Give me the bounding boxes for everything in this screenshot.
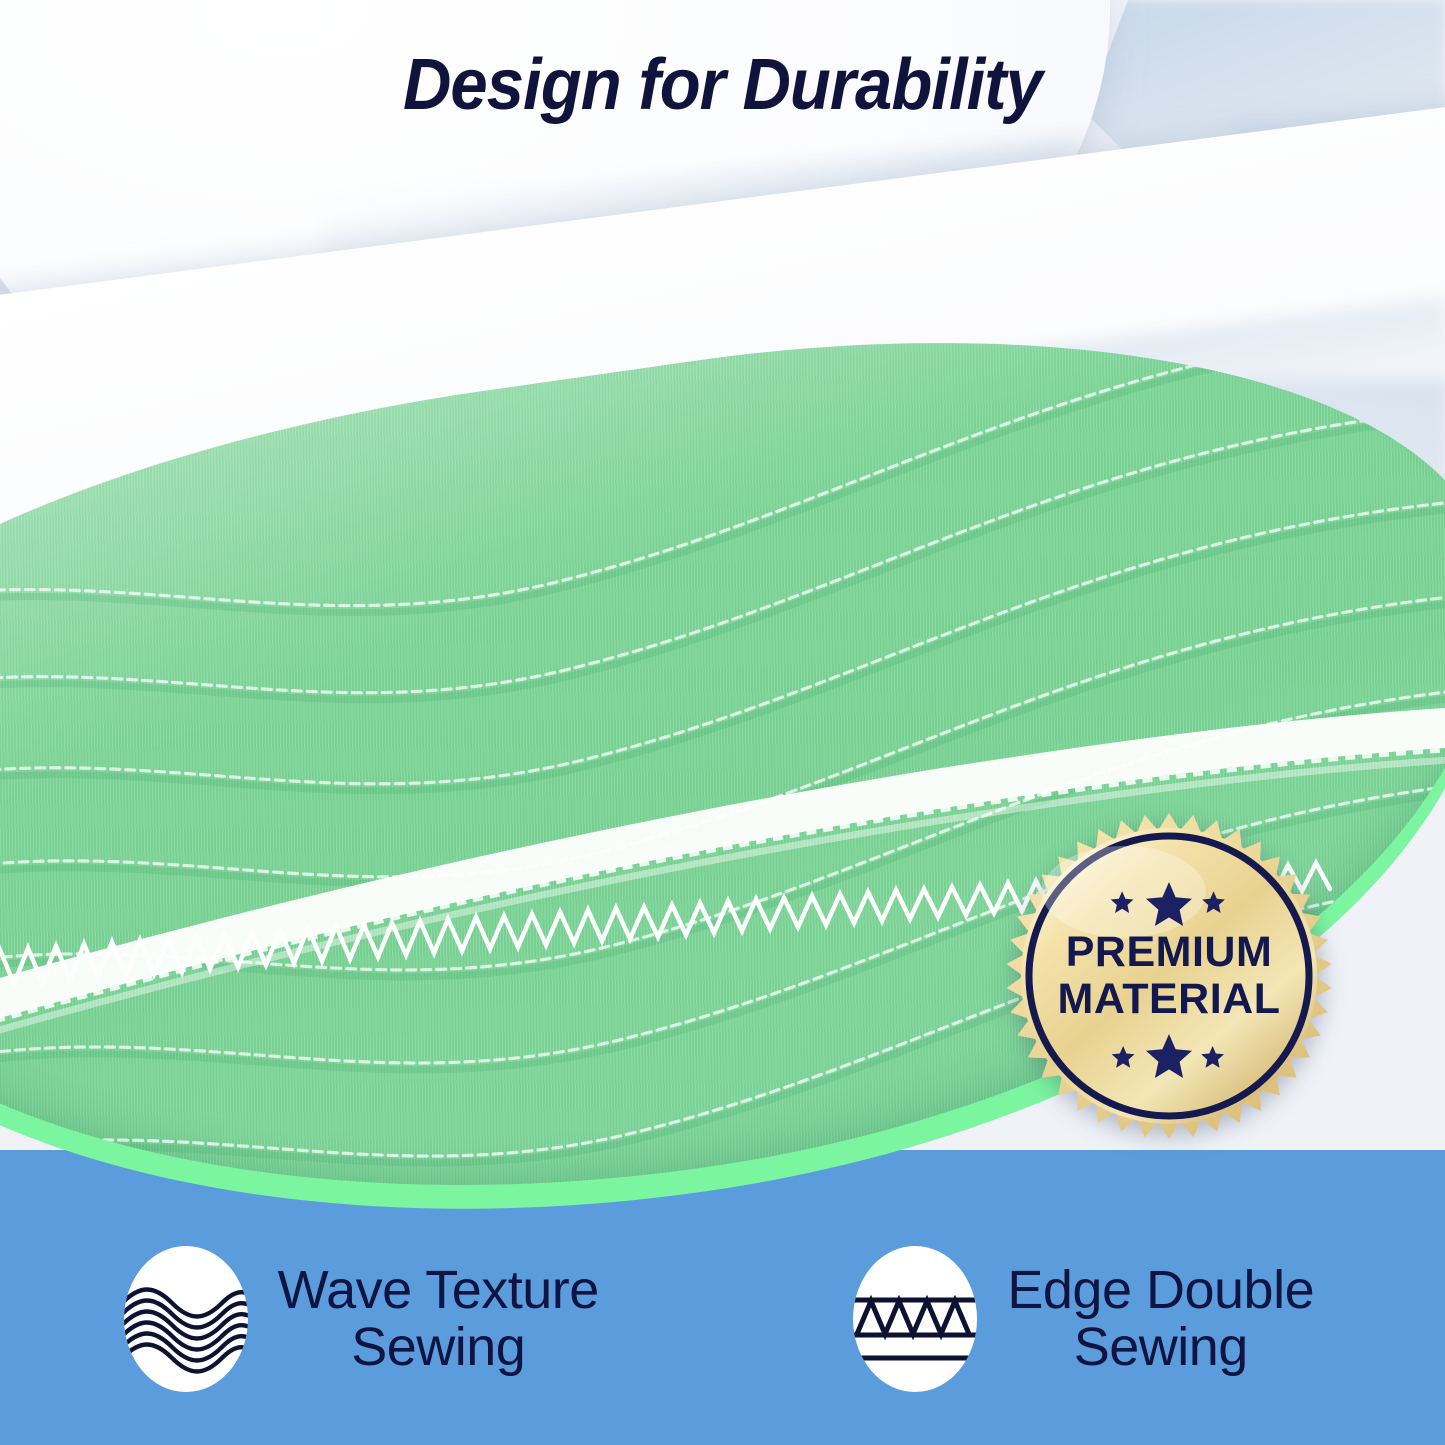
feature-label-line-1: Wave Texture [278, 1262, 599, 1319]
feature-label-wave-texture-sewing: Wave Texture Sewing [278, 1262, 599, 1376]
feature-label-line-2: Sewing [1007, 1319, 1314, 1376]
product-feature-image: PREMIUM MATERIAL Design for Durability [0, 0, 1445, 1445]
feature-row: Wave Texture Sewing Edge Double Sewing [0, 1224, 1445, 1414]
feature-item-edge-double-sewing: Edge Double Sewing [723, 1246, 1445, 1392]
feature-label-line-2: Sewing [278, 1319, 599, 1376]
wave-lines-icon [124, 1246, 248, 1392]
feature-label-line-1: Edge Double [1007, 1262, 1314, 1319]
badge-line-1: PREMIUM [1066, 930, 1273, 975]
badge-line-2: MATERIAL [1058, 977, 1281, 1022]
zigzag-stitch-icon [853, 1246, 977, 1392]
page-title: Design for Durability [51, 44, 1395, 126]
premium-material-badge: PREMIUM MATERIAL [1006, 796, 1332, 1156]
feature-label-edge-double-sewing: Edge Double Sewing [1007, 1262, 1314, 1376]
feature-item-wave-texture-sewing: Wave Texture Sewing [0, 1246, 723, 1392]
